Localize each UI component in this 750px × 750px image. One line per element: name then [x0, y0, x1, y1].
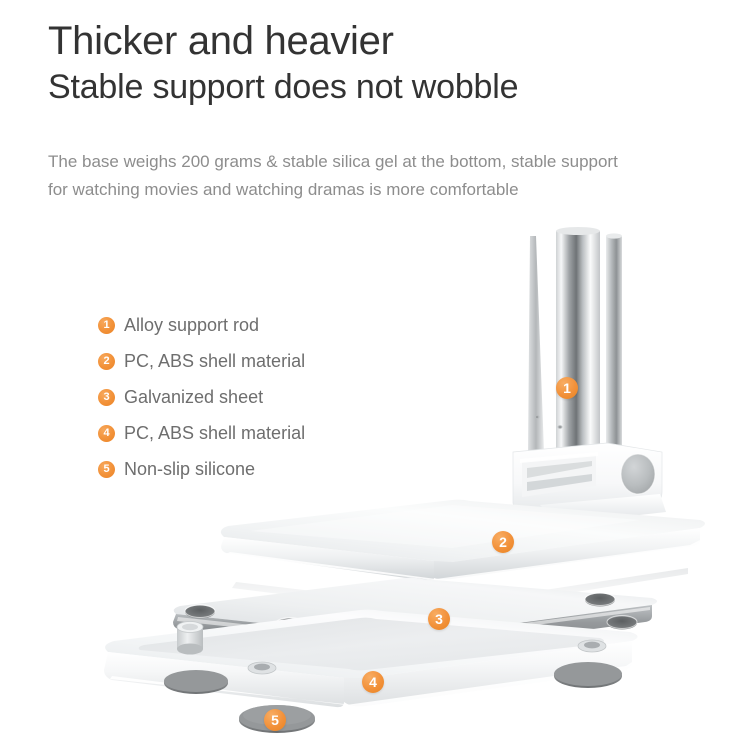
- product-infographic: Thicker and heavier Stable support does …: [0, 0, 750, 750]
- legend-label-3: Galvanized sheet: [124, 387, 263, 408]
- rod-secondary-top-cap: [606, 233, 622, 238]
- callout-marker-4: 4: [362, 671, 384, 693]
- description-line-1: The base weighs 200 grams & stable silic…: [48, 148, 728, 176]
- legend-label-2: PC, ABS shell material: [124, 351, 305, 372]
- top-plate-front-edge: [221, 537, 434, 581]
- legend-item-3: 3 Galvanized sheet: [98, 382, 398, 413]
- callout-marker-5: 5: [264, 709, 286, 731]
- rod-main-column: [556, 231, 600, 459]
- galvanized-sheet-face: [174, 578, 657, 639]
- top-plate-shadow: [232, 568, 688, 614]
- callout-marker-1: 1: [556, 377, 578, 399]
- hinge-joint-housing-group: [513, 443, 666, 524]
- legend-label-5: Non-slip silicone: [124, 459, 255, 480]
- galvanized-sheet-group: [173, 578, 657, 655]
- rod-top-cap: [556, 227, 600, 235]
- legend-item-5: 5 Non-slip silicone: [98, 454, 398, 485]
- silicone-pads-group: [164, 662, 622, 733]
- description-line-2: for watching movies and watching dramas …: [48, 176, 728, 204]
- callout-marker-2: 2: [492, 531, 514, 553]
- silicone-pad-right: [554, 664, 622, 688]
- base-shell-group: [104, 610, 638, 709]
- hinge-slot-shadow: [527, 461, 592, 478]
- top-plate-group: [221, 500, 705, 582]
- base-boss-hole-front: [248, 662, 276, 674]
- headline-block: Thicker and heavier Stable support does …: [48, 18, 728, 108]
- hinge-pivot-disc: [621, 454, 655, 494]
- top-plate-right-edge: [434, 528, 700, 579]
- base-boss-hole-right: [578, 640, 606, 652]
- hinge-base-flange: [540, 494, 666, 524]
- base-shell-standoff-bosses: [177, 622, 606, 675]
- legend-badge-2-icon: 2: [98, 353, 115, 370]
- alloy-support-rod-group: [528, 227, 622, 459]
- rod-screw-upper: [535, 415, 540, 418]
- legend-item-1: 1 Alloy support rod: [98, 310, 398, 341]
- hinge-slot-recess: [522, 455, 596, 497]
- rod-screw-lower: [558, 425, 563, 428]
- legend-item-4: 4 PC, ABS shell material: [98, 418, 398, 449]
- rod-back-bar: [528, 236, 544, 452]
- legend-badge-1-icon: 1: [98, 317, 115, 334]
- legend-badge-3-icon: 3: [98, 389, 115, 406]
- base-shell-front-wall: [104, 652, 344, 707]
- legend-label-1: Alloy support rod: [124, 315, 259, 336]
- legend-label-4: PC, ABS shell material: [124, 423, 305, 444]
- legend-badge-5-icon: 5: [98, 461, 115, 478]
- callout-marker-3: 3: [428, 608, 450, 630]
- description-paragraph: The base weighs 200 grams & stable silic…: [48, 148, 728, 204]
- legend-item-2: 2 PC, ABS shell material: [98, 346, 398, 377]
- hinge-slot-shadow-lower: [527, 474, 592, 491]
- hinge-housing-body: [513, 443, 662, 516]
- galvanized-sheet-front-edge: [173, 614, 390, 653]
- top-plate-face: [221, 500, 705, 563]
- silicone-pad-rear-left: [164, 672, 228, 694]
- legend-list: 1 Alloy support rod 2 PC, ABS shell mate…: [98, 310, 398, 490]
- headline-primary: Thicker and heavier: [48, 18, 728, 64]
- base-shell-face: [105, 610, 637, 679]
- galvanized-sheet-holes: [185, 593, 637, 632]
- galvanized-sheet-post: [286, 631, 294, 648]
- headline-secondary: Stable support does not wobble: [48, 66, 728, 108]
- base-shell-right-wall: [344, 641, 632, 707]
- rod-secondary-column: [606, 236, 622, 458]
- base-shell-inner-tray: [139, 618, 604, 671]
- legend-badge-4-icon: 4: [98, 425, 115, 442]
